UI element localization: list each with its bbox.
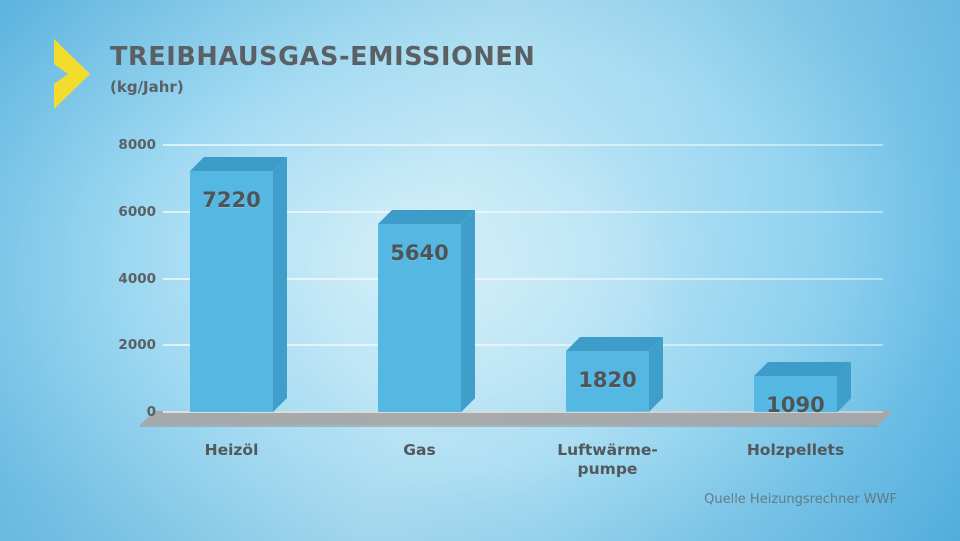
bar-value-label: 1090 (754, 393, 837, 417)
bar-side-face (461, 210, 475, 412)
x-axis-category-line: Heizöl (140, 441, 323, 460)
bar-top-face (190, 157, 287, 171)
bar-value-label: 7220 (190, 188, 273, 212)
bar-top-face (378, 210, 475, 224)
x-axis-category-line: pumpe (516, 460, 699, 479)
y-axis-tick-label: 8000 (98, 137, 156, 153)
chart-screenshot: TREIBHAUSGAS-EMISSIONEN (kg/Jahr) 020004… (0, 0, 960, 541)
x-axis-category-line: Gas (328, 441, 511, 460)
bar-top-face (754, 362, 851, 376)
x-axis-category-label: Gas (328, 441, 511, 460)
bar-value-label: 5640 (378, 241, 461, 265)
y-axis-tick-label: 6000 (98, 204, 156, 220)
x-axis-category-label: Heizöl (140, 441, 323, 460)
y-axis-tick-label: 4000 (98, 271, 156, 287)
bar-side-face (273, 157, 287, 412)
x-axis-category-line: Holzpellets (704, 441, 887, 460)
x-axis-category-label: Holzpellets (704, 441, 887, 460)
chart-plot-area: 020004000600080007220Heizöl5640Gas1820Lu… (0, 0, 960, 541)
y-axis-tick-label: 2000 (98, 337, 156, 353)
bar-value-label: 1820 (566, 368, 649, 392)
gridline (163, 144, 883, 146)
x-axis-category-line: Luftwärme- (516, 441, 699, 460)
x-axis-category-label: Luftwärme-pumpe (516, 441, 699, 480)
bar-top-face (566, 337, 663, 351)
y-axis-tick-label: 0 (98, 404, 156, 420)
source-attribution: Quelle Heizungsrechner WWF (704, 492, 897, 507)
